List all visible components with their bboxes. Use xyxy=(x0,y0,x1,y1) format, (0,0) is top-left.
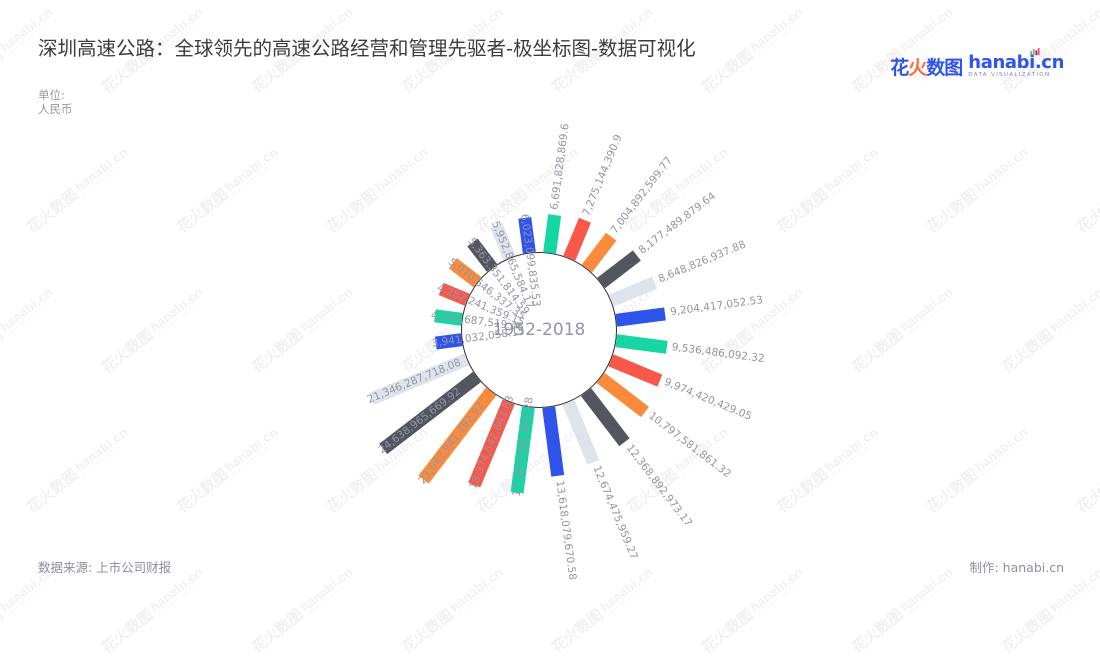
polar-bar-value-label: 8,177,489,879.64 xyxy=(637,191,718,257)
watermark: 花火数图hanabi.cnDATA VISUALIZATION xyxy=(397,564,509,657)
polar-bar-value-label: 13,618,079,670.58 xyxy=(553,480,577,581)
polar-bar[interactable] xyxy=(543,406,565,476)
watermark-en: hanabi.cnDATA VISUALIZATION xyxy=(448,565,508,617)
polar-bar[interactable] xyxy=(563,218,591,261)
brand-logo-en: hanabi.cn DATA VISUALIZATION xyxy=(968,54,1064,79)
polar-bar[interactable] xyxy=(609,276,657,306)
watermark-cn: 花火数图 xyxy=(547,604,607,657)
polar-bar-value-label: 17,387,090,943.28 xyxy=(512,396,536,497)
polar-bar[interactable] xyxy=(615,334,667,354)
polar-bar-value-label: 9,204,417,052.53 xyxy=(670,295,764,318)
watermark: 花火数图hanabi.cnDATA VISUALIZATION xyxy=(847,4,959,98)
watermark: 花火数图hanabi.cnDATA VISUALIZATION xyxy=(0,564,59,657)
watermark-en: hanabi.cnDATA VISUALIZATION xyxy=(1048,5,1100,57)
watermark-cn: 花火数图 xyxy=(697,604,757,657)
polar-bar-value-label: 10,797,581,861.32 xyxy=(646,411,732,481)
polar-bar-value-label: 12,674,475,959.27 xyxy=(590,464,639,561)
polar-bar-value-label: 8,648,826,937.88 xyxy=(657,239,748,285)
brand-name-text: hanabi.cn xyxy=(968,52,1064,73)
watermark-cn: 花火数图 xyxy=(0,44,7,97)
polar-bar-value-label: 9,536,486,092.32 xyxy=(671,342,765,365)
watermark: 花火数图hanabi.cnDATA VISUALIZATION xyxy=(547,564,659,657)
watermark: 花火数图hanabi.cnDATA VISUALIZATION xyxy=(247,564,359,657)
brand-tagline: DATA VISUALIZATION xyxy=(968,73,1064,79)
watermark-en: hanabi.cnDATA VISUALIZATION xyxy=(898,565,958,617)
watermark-cn: 花火数图 xyxy=(0,604,7,657)
sparkle-icon xyxy=(1030,48,1040,56)
watermark-cn: 花火数图 xyxy=(847,604,907,657)
watermark-en: hanabi.cnDATA VISUALIZATION xyxy=(748,565,808,617)
watermark-cn: 花火数图 xyxy=(697,44,757,97)
watermark-cn: 花火数图 xyxy=(397,604,457,657)
watermark-en: hanabi.cnDATA VISUALIZATION xyxy=(748,5,808,57)
brand-char-tu: 图 xyxy=(944,53,962,80)
polar-bar-value-label: 6,691,828,869.6 xyxy=(549,123,571,211)
data-source-label: 数据来源: 上市公司财报 xyxy=(38,557,171,576)
watermark: 花火数图hanabi.cnDATA VISUALIZATION xyxy=(997,564,1100,657)
brand-logo: 花 火 数 图 hanabi.cn DATA VISUALIZATION xyxy=(890,53,1064,80)
watermark: 花火数图hanabi.cnDATA VISUALIZATION xyxy=(697,564,809,657)
watermark-en: hanabi.cnDATA VISUALIZATION xyxy=(298,565,358,617)
brand-char-huo: 火 xyxy=(908,53,926,80)
watermark: 花火数图hanabi.cnDATA VISUALIZATION xyxy=(697,4,809,98)
polar-bar-value-label: 9,974,420,429.05 xyxy=(662,377,753,423)
brand-char-hua: 花 xyxy=(890,53,908,80)
polar-bar[interactable] xyxy=(543,214,561,254)
watermark: 花火数图hanabi.cnDATA VISUALIZATION xyxy=(997,4,1100,98)
page-title: 深圳高速公路：全球领先的高速公路经营和管理先驱者-极坐标图-数据可视化 xyxy=(38,34,698,64)
polar-bar[interactable] xyxy=(615,307,666,326)
polar-bar-value-label: 7,275,144,390.9 xyxy=(581,133,624,217)
watermark-en: hanabi.cnDATA VISUALIZATION xyxy=(898,5,958,57)
watermark-en: hanabi.cnDATA VISUALIZATION xyxy=(598,565,658,617)
watermark: 花火数图hanabi.cnDATA VISUALIZATION xyxy=(847,564,959,657)
watermark-cn: 花火数图 xyxy=(97,604,157,657)
watermark-cn: 花火数图 xyxy=(247,604,307,657)
polar-bar-value-label: 12,368,892,973.17 xyxy=(624,443,694,529)
credit-label: 制作: hanabi.cn xyxy=(969,557,1064,576)
watermark-cn: 花火数图 xyxy=(997,604,1057,657)
brand-logo-cn: 花 火 数 图 xyxy=(890,53,962,80)
watermark: 花火数图hanabi.cnDATA VISUALIZATION xyxy=(97,564,209,657)
brand-char-shu: 数 xyxy=(926,53,944,80)
polar-bar-chart: 1952-2018 6,023,099,835.535,952,865,584.… xyxy=(0,96,1100,540)
brand-name: hanabi.cn xyxy=(968,54,1064,73)
chart-page: 花火数图hanabi.cnDATA VISUALIZATION花火数图hanab… xyxy=(0,0,1100,620)
unit-label: 单位: 人民币 xyxy=(38,88,80,116)
header: 深圳高速公路：全球领先的高速公路经营和管理先驱者-极坐标图-数据可视化 xyxy=(38,34,698,64)
